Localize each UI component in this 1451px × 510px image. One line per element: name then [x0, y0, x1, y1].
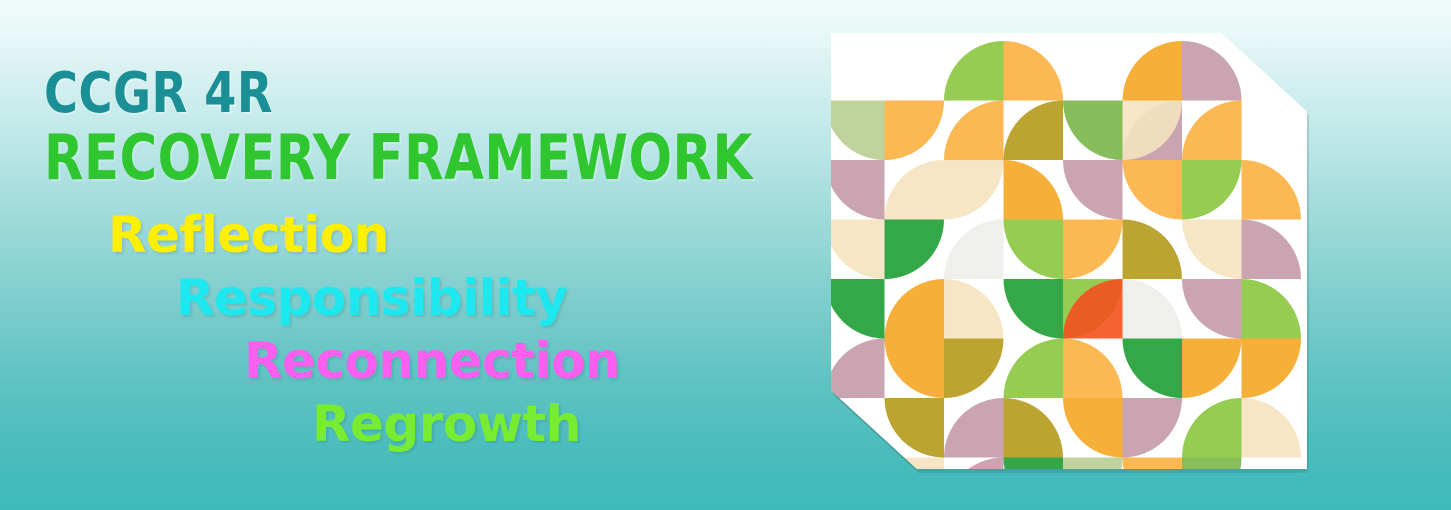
geometric-petal-collage-icon — [831, 33, 1307, 469]
page-title-line2: RECOVERY FRAMEWORK — [44, 127, 753, 189]
pillar-regrowth: Regrowth — [312, 398, 581, 450]
text-block: CCGR 4R RECOVERY FRAMEWORK Reflection Re… — [0, 0, 800, 510]
artwork-card-wrapper — [823, 27, 1313, 477]
pillar-reflection: Reflection — [108, 209, 389, 261]
artwork-card — [831, 33, 1307, 469]
page-title-line1: CCGR 4R — [44, 66, 273, 122]
pillar-reconnection: Reconnection — [244, 335, 620, 387]
pillar-responsibility: Responsibility — [176, 272, 568, 324]
recovery-framework-banner: CCGR 4R RECOVERY FRAMEWORK Reflection Re… — [0, 0, 1451, 510]
